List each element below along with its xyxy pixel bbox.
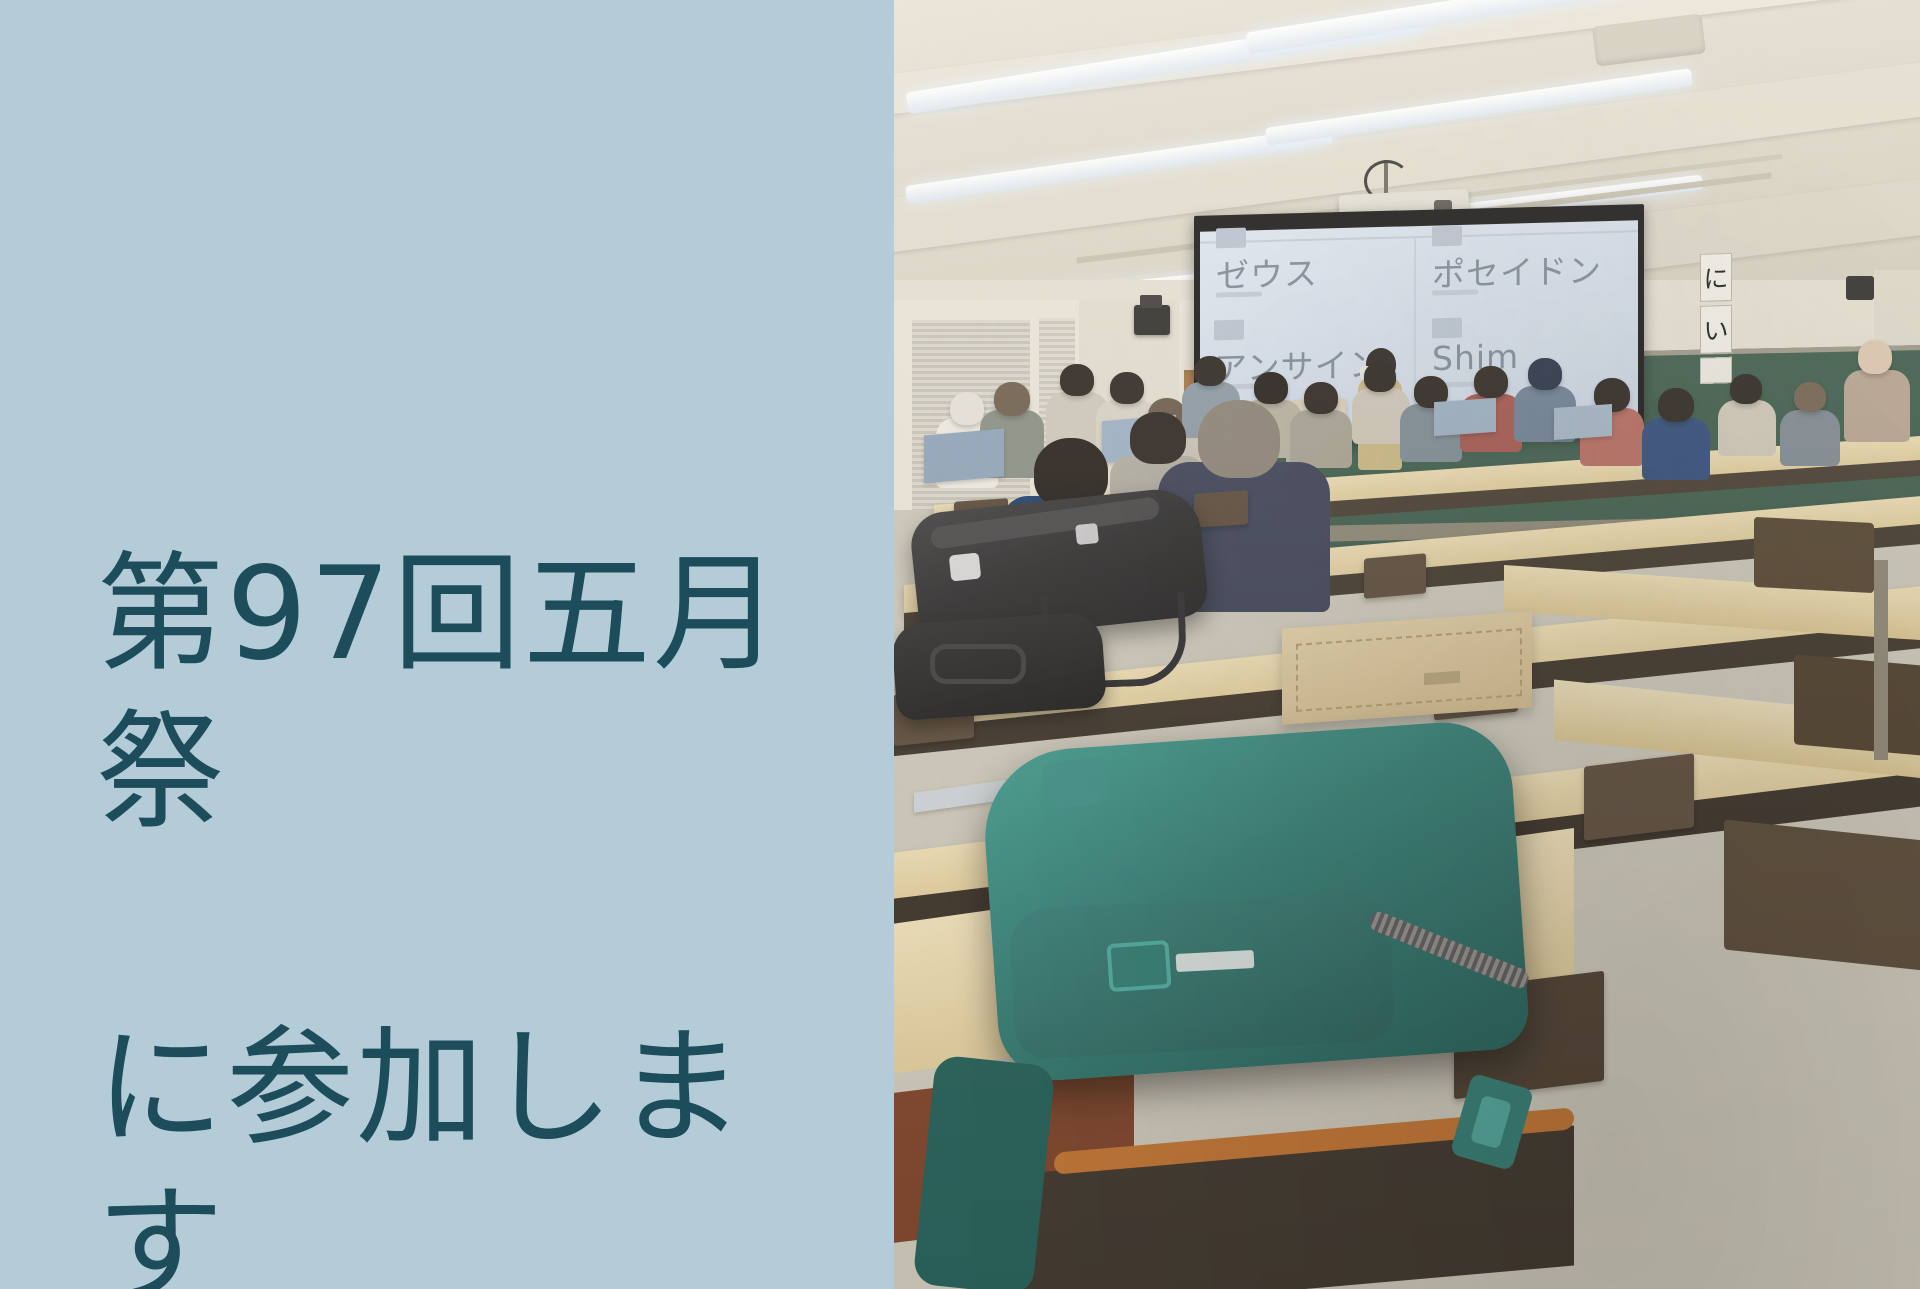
aisle-rail bbox=[1874, 560, 1888, 760]
audience-member-head bbox=[950, 392, 984, 425]
poster-char: い bbox=[1700, 305, 1732, 354]
attendee-head bbox=[1130, 412, 1186, 464]
audience-member-head bbox=[1194, 356, 1226, 386]
audience-member-head bbox=[1060, 364, 1094, 396]
backpack-shoulder-strap bbox=[912, 1054, 1055, 1289]
poster-char: に bbox=[1700, 253, 1732, 302]
title-panel: 第97回五月祭 に参加します bbox=[0, 0, 894, 1289]
audience-member-torso bbox=[1290, 410, 1352, 468]
audience-member-head bbox=[1730, 374, 1762, 404]
chair-back bbox=[1194, 490, 1248, 528]
backpack-flap bbox=[1008, 890, 1395, 1060]
wall-speaker-mount bbox=[1140, 295, 1162, 308]
lecture-hall-photo: ゼウス ポセイドン アンサイン Shim 五 月 祭 総 選 挙 に ご 投 bbox=[894, 0, 1920, 1289]
audience-member-head bbox=[1110, 372, 1144, 404]
chair-back bbox=[1584, 753, 1694, 841]
candidate-avatar bbox=[1214, 320, 1244, 341]
laptop bbox=[1554, 404, 1612, 440]
attendee-head bbox=[1198, 400, 1280, 478]
candidate-name-1: ゼウス bbox=[1216, 247, 1318, 298]
audience-member-torso bbox=[1780, 410, 1840, 466]
audience-member-torso bbox=[1642, 418, 1710, 480]
candidate-name-2: ポセイドン bbox=[1432, 244, 1602, 296]
chair-back bbox=[1754, 517, 1874, 593]
poster-char-blank bbox=[1700, 357, 1732, 384]
audience-member-head bbox=[1528, 358, 1562, 390]
wall-poster: 五 月 祭 総 選 挙 に ご 投 票 く だ さ い bbox=[1700, 246, 1920, 360]
backpack-buckle bbox=[1106, 940, 1171, 992]
audience-member-torso bbox=[1844, 370, 1910, 442]
headline-line-2: に参加します bbox=[96, 1010, 856, 1289]
candidate-name-3: アンサイン bbox=[1214, 338, 1383, 390]
laptop bbox=[1434, 398, 1496, 436]
audience-member-head bbox=[1658, 388, 1694, 422]
chair-back bbox=[1364, 553, 1426, 598]
candidate-name-4: Shim bbox=[1432, 337, 1519, 378]
chair-back bbox=[1794, 654, 1920, 755]
event-announcement-banner: 第97回五月祭 に参加します bbox=[0, 0, 1920, 1289]
audience-member-head bbox=[1858, 340, 1892, 374]
audience-member-head bbox=[1304, 382, 1338, 414]
wall-speaker bbox=[1134, 305, 1170, 335]
audience-member-torso bbox=[1718, 400, 1776, 456]
page-title: 第97回五月祭 に参加します bbox=[96, 378, 856, 1289]
laptop bbox=[924, 429, 1004, 484]
audience-member-head bbox=[1474, 366, 1508, 398]
backpack-buckle bbox=[949, 553, 982, 582]
audience-member-head bbox=[994, 382, 1030, 416]
headline-line-1: 第97回五月祭 bbox=[96, 536, 856, 852]
audience-member-head bbox=[1794, 382, 1826, 412]
box-label bbox=[1424, 671, 1460, 686]
bag-grip bbox=[930, 644, 1026, 684]
audience-member-head bbox=[1254, 372, 1288, 404]
candidate-avatar bbox=[1432, 226, 1462, 247]
chair-back bbox=[1724, 819, 1920, 970]
backpack-handle-tab bbox=[1042, 757, 1110, 809]
candidate-avatar bbox=[1216, 228, 1246, 249]
candidate-avatar bbox=[1432, 318, 1462, 339]
backpack-buckle bbox=[1075, 523, 1099, 545]
audience-member-head bbox=[1364, 362, 1396, 392]
